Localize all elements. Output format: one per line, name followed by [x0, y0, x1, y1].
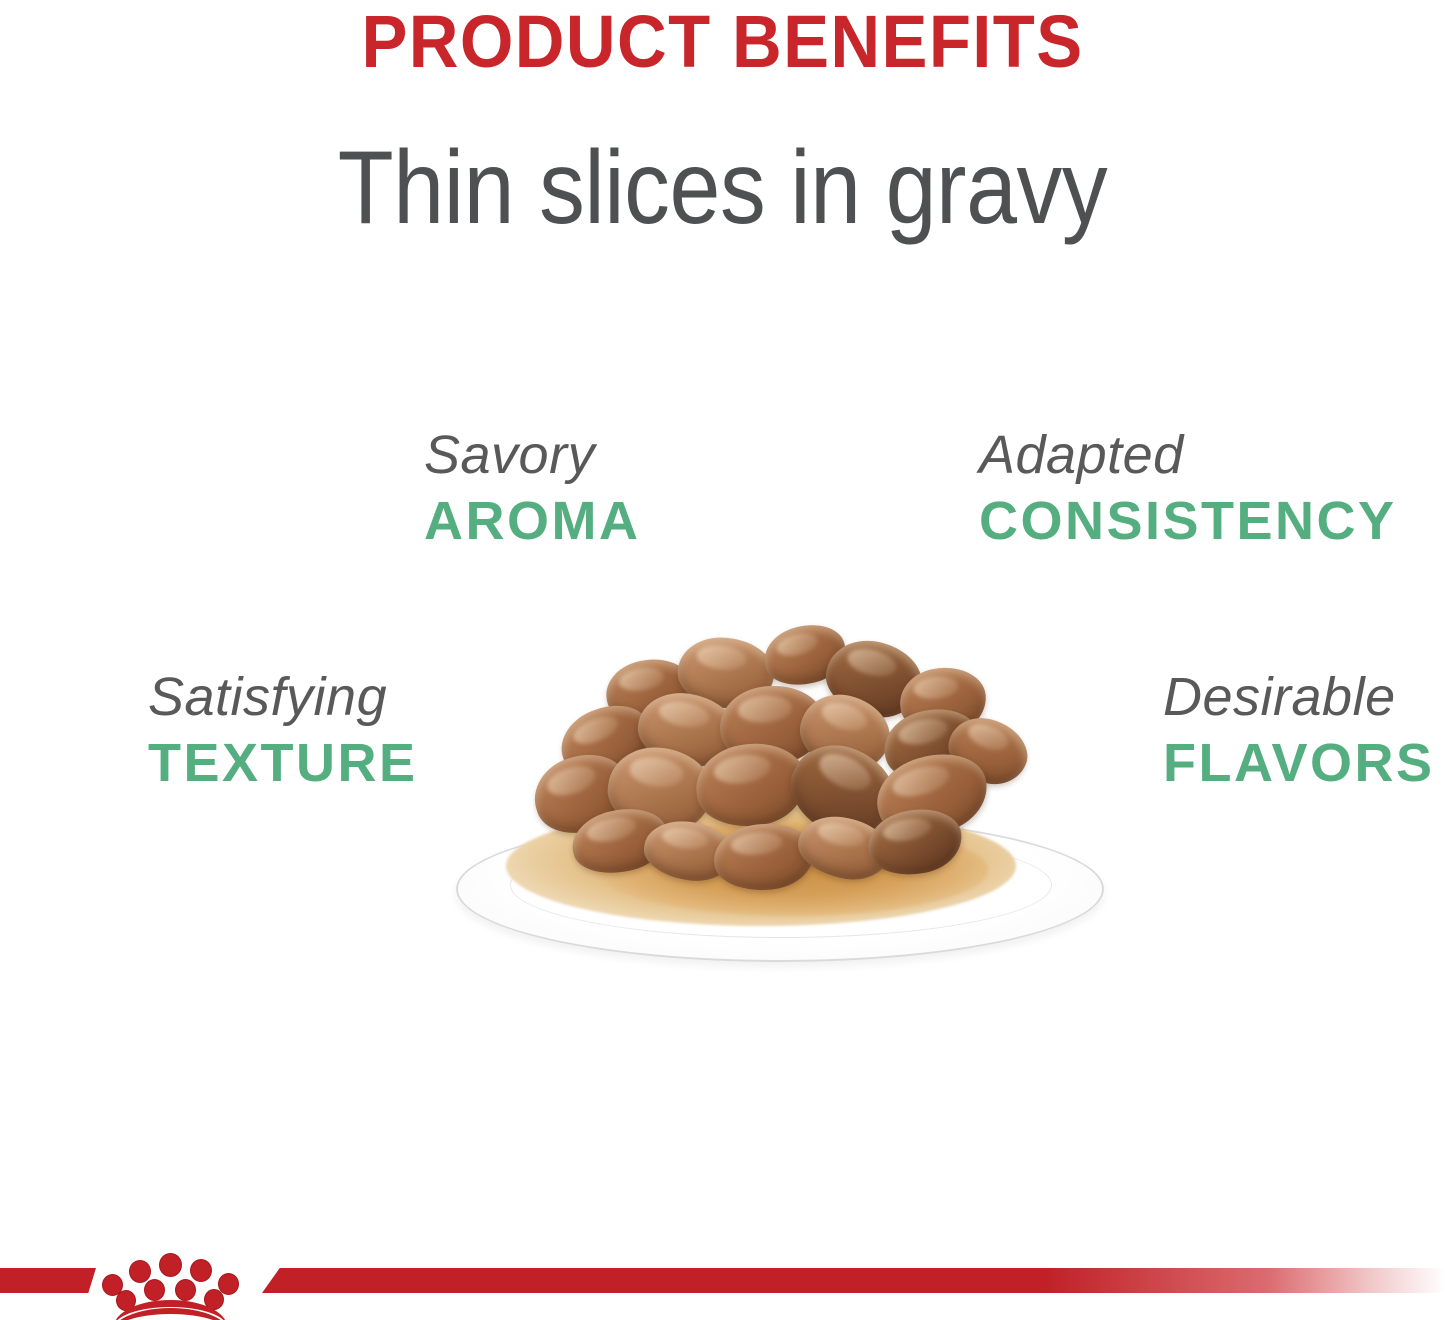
brand-footer	[0, 1254, 1445, 1320]
page-title: PRODUCT BENEFITS	[51, 2, 1395, 82]
product-subtitle: Thin slices in gravy	[87, 130, 1359, 246]
benefit-texture: Satisfying TEXTURE	[148, 666, 418, 794]
benefit-flavors-adjective: Desirable	[1163, 666, 1435, 728]
product-benefits-page: PRODUCT BENEFITS Thin slices in gravy Sa…	[0, 0, 1445, 1320]
benefit-aroma-adjective: Savory	[424, 424, 640, 486]
benefit-aroma: Savory AROMA	[424, 424, 640, 552]
brand-bar-right-segment	[262, 1268, 1445, 1293]
benefit-aroma-label: AROMA	[424, 490, 640, 552]
royal-canin-crown-icon	[98, 1242, 260, 1320]
product-food-image	[448, 598, 1108, 966]
benefit-texture-adjective: Satisfying	[148, 666, 418, 728]
brand-bar-left-segment	[0, 1268, 96, 1293]
benefit-consistency-label: CONSISTENCY	[979, 490, 1397, 552]
benefit-texture-label: TEXTURE	[148, 732, 418, 794]
benefit-flavors-label: FLAVORS	[1163, 732, 1435, 794]
meat-mound	[448, 598, 1108, 966]
benefit-consistency-adjective: Adapted	[979, 424, 1397, 486]
benefit-flavors: Desirable FLAVORS	[1163, 666, 1435, 794]
benefit-consistency: Adapted CONSISTENCY	[979, 424, 1397, 552]
